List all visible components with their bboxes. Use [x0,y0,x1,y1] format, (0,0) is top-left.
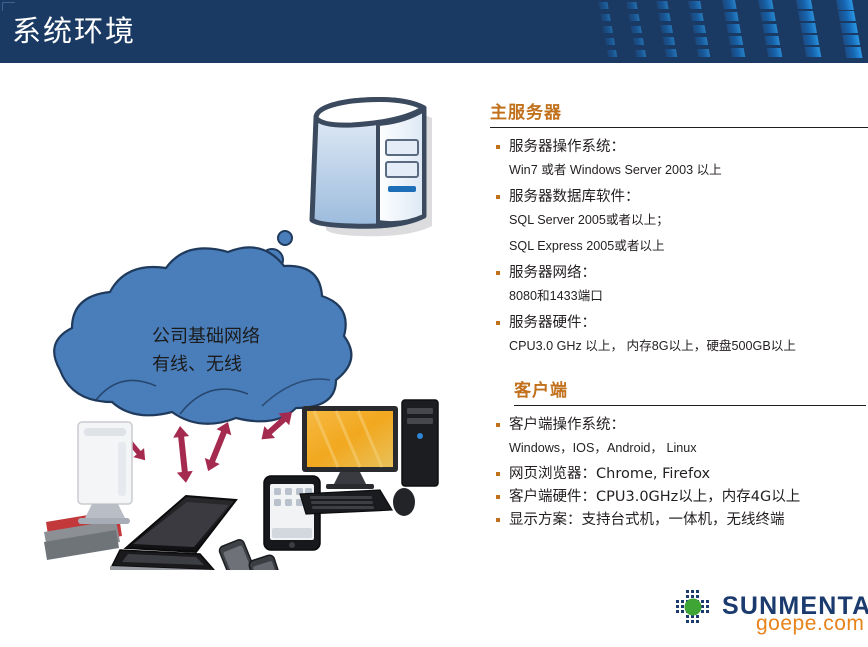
desktop-pc-icon [300,400,438,516]
list-item-detail: Win7 或者 Windows Server 2003 以上 [509,161,868,180]
list-item-label: 客户端操作系统： [509,415,625,436]
list-item-detail: 8080和1433端口 [509,287,868,306]
list-item-inline-value: CPU3.0GHz以上，内存4G以上 [596,487,800,508]
list-item-label: 服务器数据库软件： [509,187,640,208]
list-item-label: 服务器网络： [509,263,596,284]
list-item: 服务器网络： [490,263,868,284]
list-item: 客户端硬件： CPU3.0GHz以上，内存4G以上 [490,487,868,508]
list-item: 服务器操作系统： [490,137,868,158]
server-tower-icon [312,100,432,237]
bullet-icon [496,472,500,476]
section-client: 客户端 客户端操作系统： Windows，IOS，Android， Linux … [490,376,868,532]
bullet-icon [496,518,500,522]
list-item-detail-secondary: SQL Express 2005或者以上 [509,237,868,256]
cloud-label-line2: 有线、无线 [152,354,242,375]
network-cloud-shape: 公司基础网络 有线、无线 [54,247,351,423]
requirements-column: 主服务器 服务器操作系统： Win7 或者 Windows Server 200… [490,98,868,533]
router-appliance-icon [44,422,132,560]
list-item-label: 显示方案：支持台式机，一体机，无线终端 [509,510,785,531]
list-item: 客户端操作系统： [490,415,868,436]
section-heading-main-server: 主服务器 [490,98,868,123]
section-divider [490,127,868,128]
page-header: 系统环境 [0,0,868,63]
network-diagram: 公司基础网络 有线、无线 [0,70,480,570]
list-item-detail: SQL Server 2005或者以上； [509,211,868,230]
sunmenta-mark-icon [670,588,718,630]
list-item: 服务器硬件： [490,313,868,334]
header-square-pattern [448,0,868,63]
cloud-label-line1: 公司基础网络 [152,326,260,347]
list-item-label: 网页浏览器： [509,464,596,485]
bullet-icon [496,271,500,275]
bullet-icon [496,195,500,199]
list-item-detail: CPU3.0 GHz 以上， 内存8G以上，硬盘500GB以上 [509,337,868,356]
list-item-label: 客户端硬件： [509,487,596,508]
list-item: 显示方案：支持台式机，一体机，无线终端 [490,510,868,531]
list-item-detail: Windows，IOS，Android， Linux [509,439,868,458]
bullet-icon [496,321,500,325]
list-item-inline-value: Chrome, Firefox [596,464,710,485]
list-item-label: 服务器硬件： [509,313,596,334]
section-divider [514,405,866,406]
list-item: 服务器数据库软件： [490,187,868,208]
list-item: 网页浏览器： Chrome, Firefox [490,464,868,485]
bullet-icon [496,495,500,499]
bullet-icon [496,145,500,149]
site-watermark: goepe.com [756,612,864,636]
list-item-label: 服务器操作系统： [509,137,625,158]
section-heading-client: 客户端 [514,376,868,401]
bullet-icon [496,423,500,427]
laptop-icon [110,496,236,570]
section-main-server: 主服务器 服务器操作系统： Win7 或者 Windows Server 200… [490,98,868,356]
page-title: 系统环境 [12,8,136,50]
